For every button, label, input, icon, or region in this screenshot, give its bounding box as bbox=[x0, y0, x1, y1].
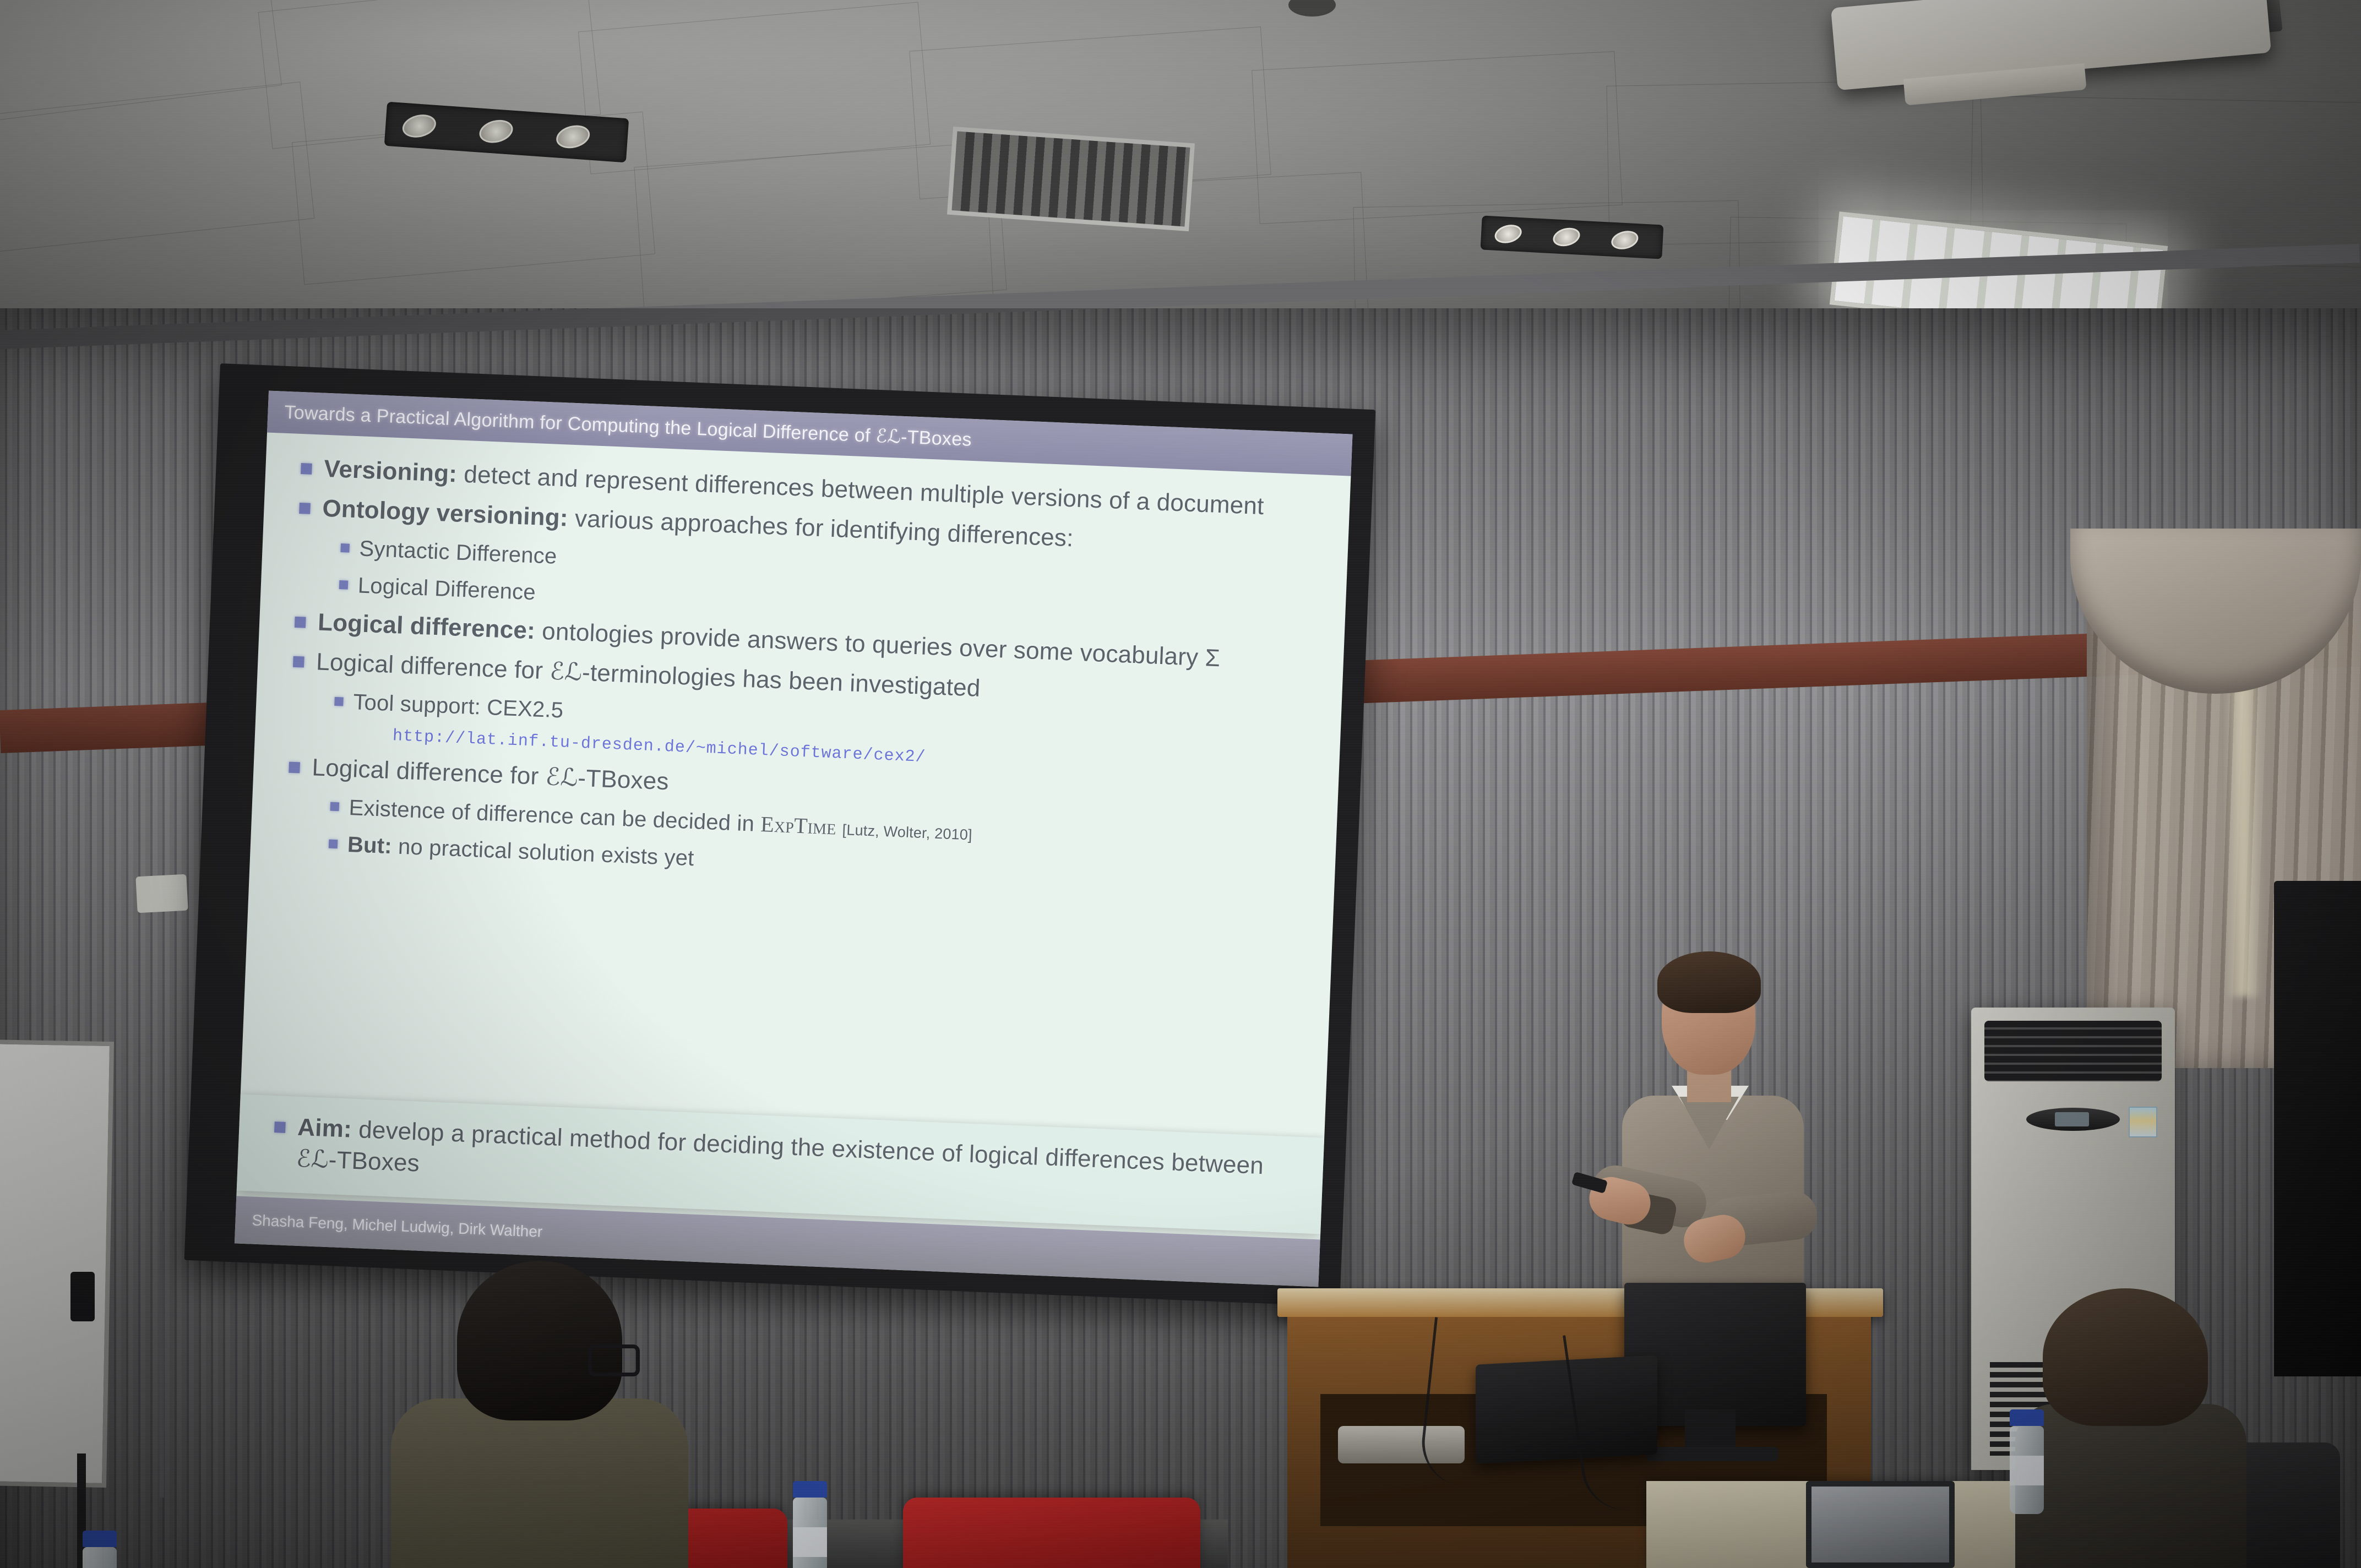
red-chair-center[interactable] bbox=[903, 1498, 1200, 1568]
bullet-marker bbox=[339, 580, 349, 590]
audience-right-hair bbox=[2043, 1288, 2208, 1426]
whiteboard bbox=[0, 1039, 114, 1488]
exptime-label: ExpTime bbox=[760, 812, 836, 839]
bottle-body bbox=[83, 1547, 117, 1568]
bottle-label bbox=[2010, 1456, 2044, 1485]
audience-left-body bbox=[391, 1398, 688, 1568]
bullet-rest: various approaches for identifying diffe… bbox=[568, 505, 1074, 552]
bullet-text: But: no practical solution exists yet bbox=[347, 831, 694, 873]
lecture-room-photo: Towards a Practical Algorithm for Comput… bbox=[0, 0, 2361, 1568]
bullet-marker bbox=[299, 503, 311, 514]
bullet-lead: Versioning: bbox=[323, 455, 458, 488]
wall-cable bbox=[160, 1211, 164, 1498]
water-bottle-center[interactable] bbox=[793, 1481, 827, 1568]
bullet-marker bbox=[274, 1121, 286, 1133]
audience-member-right bbox=[2004, 1288, 2268, 1568]
projection-screen: Towards a Practical Algorithm for Comput… bbox=[184, 363, 1376, 1306]
audience-left-hair bbox=[457, 1261, 622, 1420]
ac-grille bbox=[1984, 1021, 2162, 1081]
bottle-cap bbox=[83, 1531, 117, 1547]
bullet-marker bbox=[329, 840, 338, 849]
audience-laptop[interactable] bbox=[1806, 1481, 1955, 1568]
audience-member-left bbox=[374, 1261, 705, 1568]
bullet-marker bbox=[334, 696, 344, 706]
bullet-rest: no practical solution exists yet bbox=[391, 835, 694, 871]
cable bbox=[1418, 1317, 1525, 1491]
ceiling-air-vent bbox=[947, 127, 1195, 231]
wall-outlet bbox=[135, 874, 188, 913]
bullet-marker bbox=[293, 656, 304, 668]
slide-authors: Shasha Feng, Michel Ludwig, Dirk Walther bbox=[235, 1211, 543, 1240]
bullet-lead: But: bbox=[347, 832, 392, 858]
bullet-marker bbox=[301, 463, 312, 475]
bullet-lead: Ontology versioning: bbox=[322, 495, 569, 532]
bullet-marker bbox=[289, 761, 300, 773]
bottle-cap bbox=[793, 1481, 827, 1498]
bullet-lead: Logical difference: bbox=[317, 609, 536, 645]
speaker-hair bbox=[1657, 951, 1761, 1013]
projected-slide: Towards a Practical Algorithm for Comput… bbox=[235, 391, 1353, 1287]
water-bottle-left[interactable] bbox=[83, 1531, 117, 1568]
bullet-text: Syntactic Difference bbox=[359, 535, 558, 571]
whiteboard-clamp bbox=[70, 1272, 95, 1321]
speaker-cabinet bbox=[2274, 881, 2361, 1376]
citation: [Lutz, Wolter, 2010] bbox=[842, 821, 972, 843]
glasses-icon bbox=[588, 1344, 640, 1376]
bottle-label bbox=[793, 1527, 827, 1557]
audience-right-body bbox=[2015, 1404, 2246, 1568]
window-light-gap bbox=[2224, 655, 2263, 997]
bullet-text: Logical difference for ℰℒ-TBoxes bbox=[312, 752, 670, 797]
bottle-cap bbox=[2010, 1409, 2044, 1426]
bullet-text: Logical Difference bbox=[357, 571, 536, 607]
bullet-marker bbox=[330, 802, 340, 812]
bullet-marker bbox=[340, 543, 350, 553]
ac-control-panel[interactable] bbox=[2026, 1108, 2120, 1131]
water-bottle-right[interactable] bbox=[2010, 1409, 2044, 1514]
exptime-prefix: Existence of difference can be decided i… bbox=[349, 796, 761, 836]
aim-lead: Aim: bbox=[297, 1114, 352, 1143]
ac-energy-label bbox=[2129, 1107, 2157, 1137]
bullet-text: Tool support: CEX2.5 bbox=[352, 688, 564, 725]
bullet-marker bbox=[295, 617, 306, 628]
